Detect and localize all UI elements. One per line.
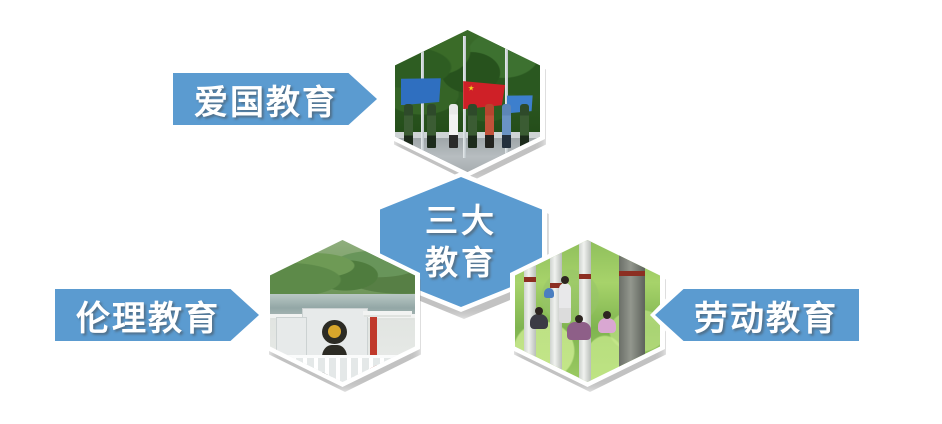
label-labour-education[interactable]: 劳动教育 (650, 284, 864, 346)
label-ethics-education-body: 伦理教育 (55, 289, 259, 341)
center-label-line2: 教育 (425, 242, 497, 284)
label-patriotic-education-text: 爱国教育 (194, 75, 338, 124)
label-patriotic-education-body: 爱国教育 (173, 73, 377, 125)
tree-trunk (579, 240, 591, 382)
flag-ceremony-scene (395, 30, 540, 172)
honor-guard-figure (520, 104, 529, 148)
label-ethics-education[interactable]: 伦理教育 (50, 284, 264, 346)
label-labour-education-body: 劳动教育 (655, 289, 859, 341)
honor-guard-figure (449, 104, 458, 148)
pavilion-scene (270, 240, 415, 382)
balustrade (270, 355, 415, 382)
label-ethics-education-text: 伦理教育 (76, 291, 220, 340)
honor-guard-figure (468, 104, 477, 148)
center-label-line1: 三大 (425, 200, 497, 242)
three-educations-diagram: 三大 教育 (0, 0, 942, 424)
student-distant (544, 288, 554, 298)
blue-flag-icon (401, 78, 441, 105)
student-crouching (567, 322, 591, 340)
upper-railing (363, 311, 412, 315)
student-crouching (530, 314, 548, 329)
label-patriotic-education[interactable]: 爱国教育 (168, 68, 382, 130)
honor-guard-figure (404, 104, 413, 148)
label-labour-education-text: 劳动教育 (694, 291, 838, 340)
honor-guard-figure (485, 104, 494, 148)
lawn-labour-scene (515, 240, 660, 382)
honor-guard-figure (502, 104, 511, 148)
hexagon-photo-labour-image (515, 240, 660, 382)
hexagon-photo-ethics-image (270, 240, 415, 382)
hexagon-photo-patriotic-image (395, 30, 540, 172)
medallion-ornament (322, 320, 347, 344)
student-standing (559, 283, 571, 323)
student-crouching (598, 318, 616, 333)
honor-guard-figure (427, 104, 436, 148)
